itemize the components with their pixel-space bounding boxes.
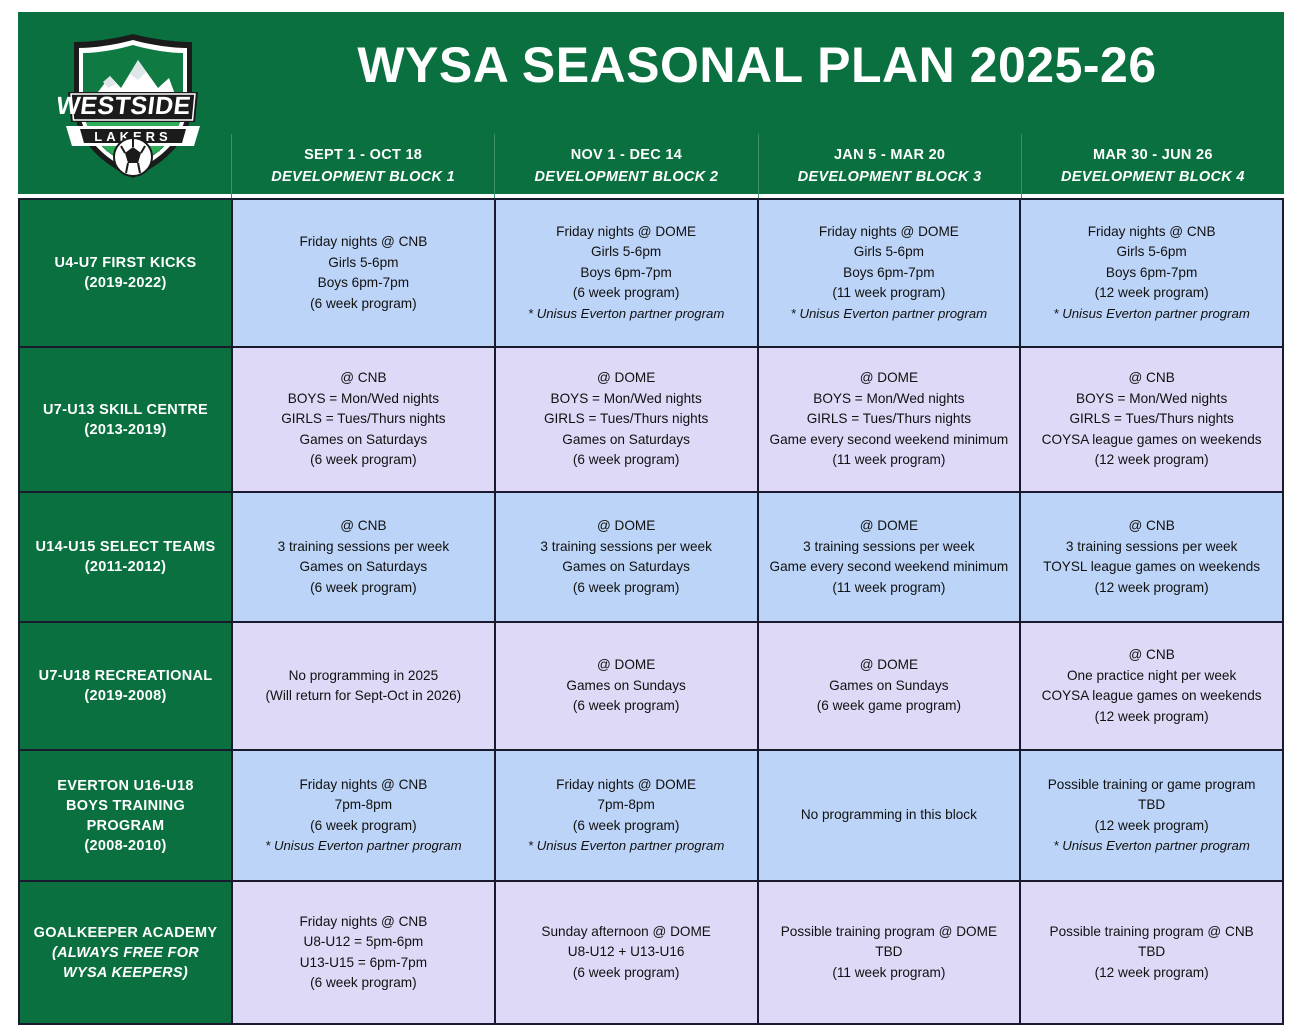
program-label-line: U7-U13 SKILL CENTRE [43,400,208,420]
schedule-cell-line: BOYS = Mon/Wed nights [1076,389,1227,410]
program-label-line: U4-U7 FIRST KICKS [54,253,196,273]
period-dates: NOV 1 - DEC 14 [495,144,757,166]
schedule-cell-line: @ CNB [1128,516,1174,537]
schedule-cell-line: Games on Saturdays [562,430,690,451]
schedule-cell: @ CNBBOYS = Mon/Wed nightsGIRLS = Tues/T… [233,348,494,491]
schedule-cell-line: Possible training program @ DOME [781,922,997,943]
schedule-cell: Possible training program @ DOMETBD(11 w… [757,882,1020,1023]
schedule-cell-line: TBD [875,942,902,963]
schedule-cell-line: U8-U12 = 5pm-6pm [304,932,424,953]
schedule-cell: Friday nights @ CNBGirls 5-6pmBoys 6pm-7… [1019,200,1282,346]
page-title: WYSA SEASONAL PLAN 2025-26 [230,34,1284,96]
schedule-cell: Sunday afternoon @ DOMEU8-U12 + U13-U16(… [494,882,757,1023]
partner-program-note: * Unisus Everton partner program [1053,304,1249,325]
schedule-cell-line: (11 week program) [832,283,945,304]
schedule-cell: Friday nights @ DOMEGirls 5-6pmBoys 6pm-… [757,200,1020,346]
schedule-cell-line: 3 training sessions per week [278,537,450,558]
program-label-cell: U4-U7 FIRST KICKS(2019-2022) [20,200,233,346]
schedule-cell-line: Boys 6pm-7pm [843,263,934,284]
schedule-cell-line: @ DOME [597,655,655,676]
schedule-cell: No programming in this block [757,751,1020,880]
schedule-cell-line: (6 week game program) [817,696,961,717]
schedule-cell-line: Girls 5-6pm [1117,242,1187,263]
period-header-3: JAN 5 - MAR 20 DEVELOPMENT BLOCK 3 [758,134,1021,206]
period-header-1: SEPT 1 - OCT 18 DEVELOPMENT BLOCK 1 [231,134,494,206]
schedule-cell-line: GIRLS = Tues/Thurs nights [544,409,708,430]
schedule-cell-line: GIRLS = Tues/Thurs nights [1069,409,1233,430]
schedule-cell-line: GIRLS = Tues/Thurs nights [807,409,971,430]
schedule-cell: @ DOME3 training sessions per weekGames … [494,493,757,621]
partner-program-note: * Unisus Everton partner program [265,836,461,857]
schedule-cell: @ CNBOne practice night per weekCOYSA le… [1019,623,1282,749]
schedule-cell-line: (6 week program) [573,578,680,599]
period-header-row: SEPT 1 - OCT 18 DEVELOPMENT BLOCK 1 NOV … [231,134,1284,206]
partner-program-note: * Unisus Everton partner program [528,836,724,857]
program-label-line: GOALKEEPER ACADEMY [34,923,218,943]
table-row: U4-U7 FIRST KICKS(2019-2022)Friday night… [20,200,1282,348]
program-label-cell: GOALKEEPER ACADEMY(ALWAYS FREE FORWYSA K… [20,882,233,1023]
program-label-line: WYSA KEEPERS) [63,963,188,983]
schedule-cell-line: (12 week program) [1095,816,1209,837]
table-row: U14-U15 SELECT TEAMS(2011-2012)@ CNB3 tr… [20,493,1282,623]
program-label-line: EVERTON U16-U18 [57,776,193,796]
schedule-cell: Friday nights @ CNBGirls 5-6pmBoys 6pm-7… [233,200,494,346]
period-block-label: DEVELOPMENT BLOCK 1 [232,166,494,188]
schedule-cell-line: BOYS = Mon/Wed nights [551,389,702,410]
schedule-cell-line: Possible training program @ CNB [1050,922,1254,943]
schedule-cell-line: Girls 5-6pm [854,242,924,263]
schedule-cell-line: Games on Sundays [566,676,685,697]
schedule-cell-line: (6 week program) [573,283,680,304]
schedule-cell-line: COYSA league games on weekends [1042,686,1262,707]
schedule-cell-line: @ CNB [340,516,386,537]
partner-program-note: * Unisus Everton partner program [791,304,987,325]
schedule-cell: @ DOMEGames on Sundays(6 week game progr… [757,623,1020,749]
schedule-cell: Friday nights @ CNB7pm-8pm(6 week progra… [233,751,494,880]
program-label-line: (2019-2008) [84,686,166,706]
table-row: U7-U18 RECREATIONAL(2019-2008)No program… [20,623,1282,751]
schedule-cell-line: 3 training sessions per week [1066,537,1238,558]
schedule-cell: @ DOMEBOYS = Mon/Wed nightsGIRLS = Tues/… [757,348,1020,491]
schedule-cell-line: Boys 6pm-7pm [318,273,409,294]
schedule-cell-line: (6 week program) [310,816,417,837]
period-block-label: DEVELOPMENT BLOCK 2 [495,166,757,188]
schedule-cell-line: Girls 5-6pm [328,253,398,274]
period-dates: JAN 5 - MAR 20 [759,144,1021,166]
schedule-cell-line: (12 week program) [1095,450,1209,471]
schedule-cell-line: Friday nights @ CNB [1088,222,1216,243]
schedule-cell-line: (12 week program) [1095,283,1209,304]
schedule-cell-line: One practice night per week [1067,666,1236,687]
schedule-cell: Friday nights @ DOME7pm-8pm(6 week progr… [494,751,757,880]
table-row: GOALKEEPER ACADEMY(ALWAYS FREE FORWYSA K… [20,882,1282,1023]
program-label-cell: EVERTON U16-U18BOYS TRAINING PROGRAM(200… [20,751,233,880]
schedule-cell-line: (6 week program) [573,450,680,471]
schedule-cell-line: Boys 6pm-7pm [1106,263,1197,284]
program-label-line: (2008-2010) [84,836,166,856]
schedule-cell-line: Game every second weekend minimum [770,557,1009,578]
westside-lakers-crest-icon: WESTSIDE LAKERS [58,30,208,182]
schedule-cell-line: Friday nights @ DOME [556,775,696,796]
program-label-cell: U14-U15 SELECT TEAMS(2011-2012) [20,493,233,621]
program-label-line: U14-U15 SELECT TEAMS [35,537,215,557]
schedule-cell-line: No programming in this block [801,805,977,826]
schedule-cell-line: Friday nights @ CNB [299,912,427,933]
schedule-cell-line: @ CNB [340,368,386,389]
schedule-cell-line: Games on Saturdays [562,557,690,578]
period-header-4: MAR 30 - JUN 26 DEVELOPMENT BLOCK 4 [1021,134,1284,206]
schedule-cell-line: TOYSL league games on weekends [1043,557,1260,578]
partner-program-note: * Unisus Everton partner program [528,304,724,325]
period-header-2: NOV 1 - DEC 14 DEVELOPMENT BLOCK 2 [494,134,757,206]
partner-program-note: * Unisus Everton partner program [1053,836,1249,857]
schedule-cell: @ DOME3 training sessions per weekGame e… [757,493,1020,621]
schedule-cell: Possible training program @ CNBTBD(12 we… [1019,882,1282,1023]
schedule-cell-line: BOYS = Mon/Wed nights [813,389,964,410]
schedule-cell-line: Games on Saturdays [300,557,428,578]
schedule-cell-line: Sunday afternoon @ DOME [541,922,710,943]
schedule-cell-line: (12 week program) [1095,707,1209,728]
schedule-cell-line: (6 week program) [310,578,417,599]
schedule-cell-line: (Will return for Sept-Oct in 2026) [266,686,462,707]
schedule-cell-line: No programming in 2025 [289,666,439,687]
program-label-line: (2013-2019) [84,420,166,440]
seasonal-plan-page: WESTSIDE LAKERS WYSA SEASONAL PLAN 2025-… [0,0,1302,1023]
schedule-cell-line: (11 week program) [832,578,945,599]
schedule-cell-line: GIRLS = Tues/Thurs nights [281,409,445,430]
schedule-cell-line: 7pm-8pm [335,795,392,816]
schedule-cell-line: Friday nights @ DOME [819,222,959,243]
schedule-cell-line: (12 week program) [1095,578,1209,599]
period-dates: SEPT 1 - OCT 18 [232,144,494,166]
schedule-cell: @ DOMEGames on Sundays(6 week program) [494,623,757,749]
schedule-cell-line: (6 week program) [573,696,680,717]
schedule-cell-line: COYSA league games on weekends [1042,430,1262,451]
schedule-cell-line: Friday nights @ CNB [299,775,427,796]
program-label-line: (ALWAYS FREE FOR [52,943,199,963]
period-dates: MAR 30 - JUN 26 [1022,144,1284,166]
schedule-cell-line: @ DOME [597,516,655,537]
schedule-cell-line: (11 week program) [832,963,945,984]
schedule-cell-line: @ DOME [860,655,918,676]
table-row: U7-U13 SKILL CENTRE(2013-2019)@ CNBBOYS … [20,348,1282,493]
schedule-cell: @ CNB3 training sessions per weekGames o… [233,493,494,621]
schedule-cell-line: Game every second weekend minimum [770,430,1009,451]
schedule-cell: Possible training or game programTBD(12 … [1019,751,1282,880]
schedule-cell-line: Friday nights @ DOME [556,222,696,243]
program-label-line: (2011-2012) [85,557,167,577]
club-logo: WESTSIDE LAKERS [58,30,208,182]
schedule-cell-line: (6 week program) [573,816,680,837]
schedule-cell-line: (11 week program) [832,450,945,471]
program-label-line: (2019-2022) [84,273,166,293]
header-banner: WESTSIDE LAKERS WYSA SEASONAL PLAN 2025-… [18,12,1284,194]
period-block-label: DEVELOPMENT BLOCK 4 [1022,166,1284,188]
schedule-cell-line: @ CNB [1128,645,1174,666]
svg-text:WESTSIDE: WESTSIDE [58,92,193,120]
schedule-cell-line: @ CNB [1128,368,1174,389]
schedule-cell-line: @ DOME [860,516,918,537]
schedule-cell: @ CNBBOYS = Mon/Wed nightsGIRLS = Tues/T… [1019,348,1282,491]
schedule-cell-line: (6 week program) [310,973,417,994]
table-row: EVERTON U16-U18BOYS TRAINING PROGRAM(200… [20,751,1282,882]
schedule-cell: @ CNB3 training sessions per weekTOYSL l… [1019,493,1282,621]
schedule-cell-line: BOYS = Mon/Wed nights [288,389,439,410]
schedule-cell: Friday nights @ DOMEGirls 5-6pmBoys 6pm-… [494,200,757,346]
schedule-cell-line: TBD [1138,942,1165,963]
program-label-line: U7-U18 RECREATIONAL [39,666,213,686]
schedule-cell-line: 3 training sessions per week [540,537,712,558]
schedule-cell-line: Friday nights @ CNB [299,232,427,253]
program-label-line: BOYS TRAINING PROGRAM [28,796,223,836]
schedule-cell-line: Possible training or game program [1048,775,1256,796]
schedule-cell: Friday nights @ CNBU8-U12 = 5pm-6pmU13-U… [233,882,494,1023]
schedule-cell-line: U13-U15 = 6pm-7pm [300,953,427,974]
program-label-cell: U7-U18 RECREATIONAL(2019-2008) [20,623,233,749]
schedule-cell-line: 3 training sessions per week [803,537,975,558]
schedule-cell-line: (12 week program) [1095,963,1209,984]
schedule-cell-line: Boys 6pm-7pm [580,263,671,284]
schedule-cell-line: TBD [1138,795,1165,816]
schedule-cell: @ DOMEBOYS = Mon/Wed nightsGIRLS = Tues/… [494,348,757,491]
schedule-cell-line: U8-U12 + U13-U16 [568,942,685,963]
schedule-cell-line: @ DOME [597,368,655,389]
schedule-cell-line: 7pm-8pm [597,795,654,816]
period-block-label: DEVELOPMENT BLOCK 3 [759,166,1021,188]
program-label-cell: U7-U13 SKILL CENTRE(2013-2019) [20,348,233,491]
seasonal-plan-grid: U4-U7 FIRST KICKS(2019-2022)Friday night… [18,198,1284,1025]
schedule-cell-line: @ DOME [860,368,918,389]
schedule-cell-line: Girls 5-6pm [591,242,661,263]
schedule-cell-line: Games on Saturdays [300,430,428,451]
schedule-cell-line: (6 week program) [310,294,417,315]
schedule-cell: No programming in 2025(Will return for S… [233,623,494,749]
schedule-cell-line: (6 week program) [310,450,417,471]
schedule-cell-line: Games on Sundays [829,676,948,697]
schedule-cell-line: (6 week program) [573,963,680,984]
